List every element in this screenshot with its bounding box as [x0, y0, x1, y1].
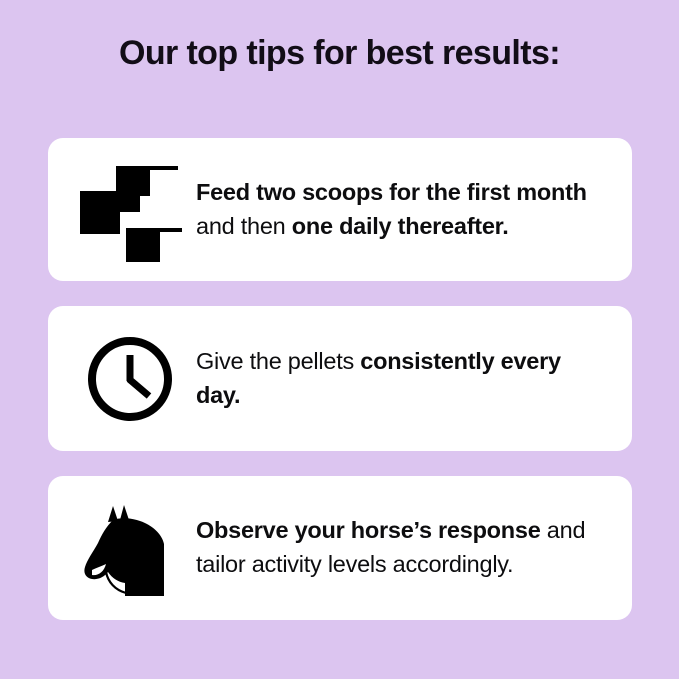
tips-card-list: Feed two scoops for the first month and …	[48, 138, 632, 620]
page-title: Our top tips for best results:	[0, 33, 679, 74]
tip-card-feeding-text: Feed two scoops for the first month and …	[190, 176, 608, 243]
tip-card-observation-text: Observe your horse’s response and tailor…	[190, 514, 608, 581]
horse-head-icon	[70, 493, 190, 603]
measuring-scoops-icon	[70, 155, 190, 265]
tip-text-segment: Feed two scoops for the first month	[196, 179, 587, 205]
tip-text-segment: and then	[196, 213, 292, 239]
tip-card-observation: Observe your horse’s response and tailor…	[48, 476, 632, 620]
tip-card-feeding: Feed two scoops for the first month and …	[48, 138, 632, 281]
tip-text-segment: Observe your horse’s response	[196, 517, 541, 543]
tips-infographic: Our top tips for best results:	[0, 0, 679, 679]
tip-card-consistency-text: Give the pellets consistently every day.	[190, 345, 608, 412]
clock-icon	[70, 324, 190, 434]
tip-card-consistency: Give the pellets consistently every day.	[48, 306, 632, 451]
tip-text-segment: Give the pellets	[196, 348, 360, 374]
tip-text-segment: one daily thereafter.	[292, 213, 509, 239]
